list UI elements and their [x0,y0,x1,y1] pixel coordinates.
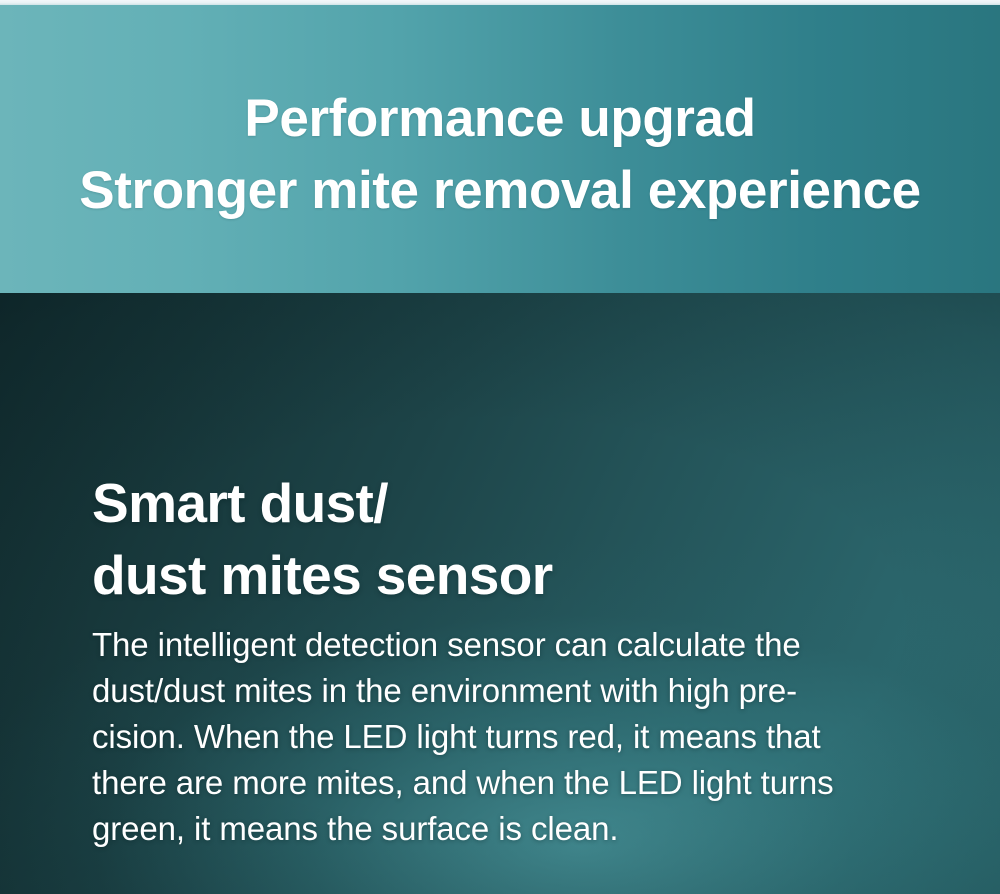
product-feature-page: Performance upgrad Stronger mite removal… [0,0,1000,894]
hero-headline-line-1: Performance upgrad [244,83,755,155]
feature-body-line-5: green, it means the surface is clean. [92,806,922,852]
feature-body-line-4: there are more mites, and when the LED l… [92,760,922,806]
hero-banner: Performance upgrad Stronger mite removal… [0,5,1000,293]
feature-heading-line-1: Smart dust/ [92,467,892,539]
feature-content: Smart dust/ dust mites sensor The intell… [92,293,952,894]
feature-heading: Smart dust/ dust mites sensor [92,467,892,611]
hero-headline-line-2: Stronger mite removal experience [79,155,920,227]
feature-section: Smart dust/ dust mites sensor The intell… [0,293,1000,894]
hero-text-block: Performance upgrad Stronger mite removal… [0,5,1000,293]
feature-heading-line-2: dust mites sensor [92,539,892,611]
feature-body-line-1: The intelligent detection sensor can cal… [92,622,922,668]
feature-body-text: The intelligent detection sensor can cal… [92,622,922,852]
feature-body-line-2: dust/dust mites in the environment with … [92,668,922,714]
feature-body-line-3: cision. When the LED light turns red, it… [92,714,922,760]
